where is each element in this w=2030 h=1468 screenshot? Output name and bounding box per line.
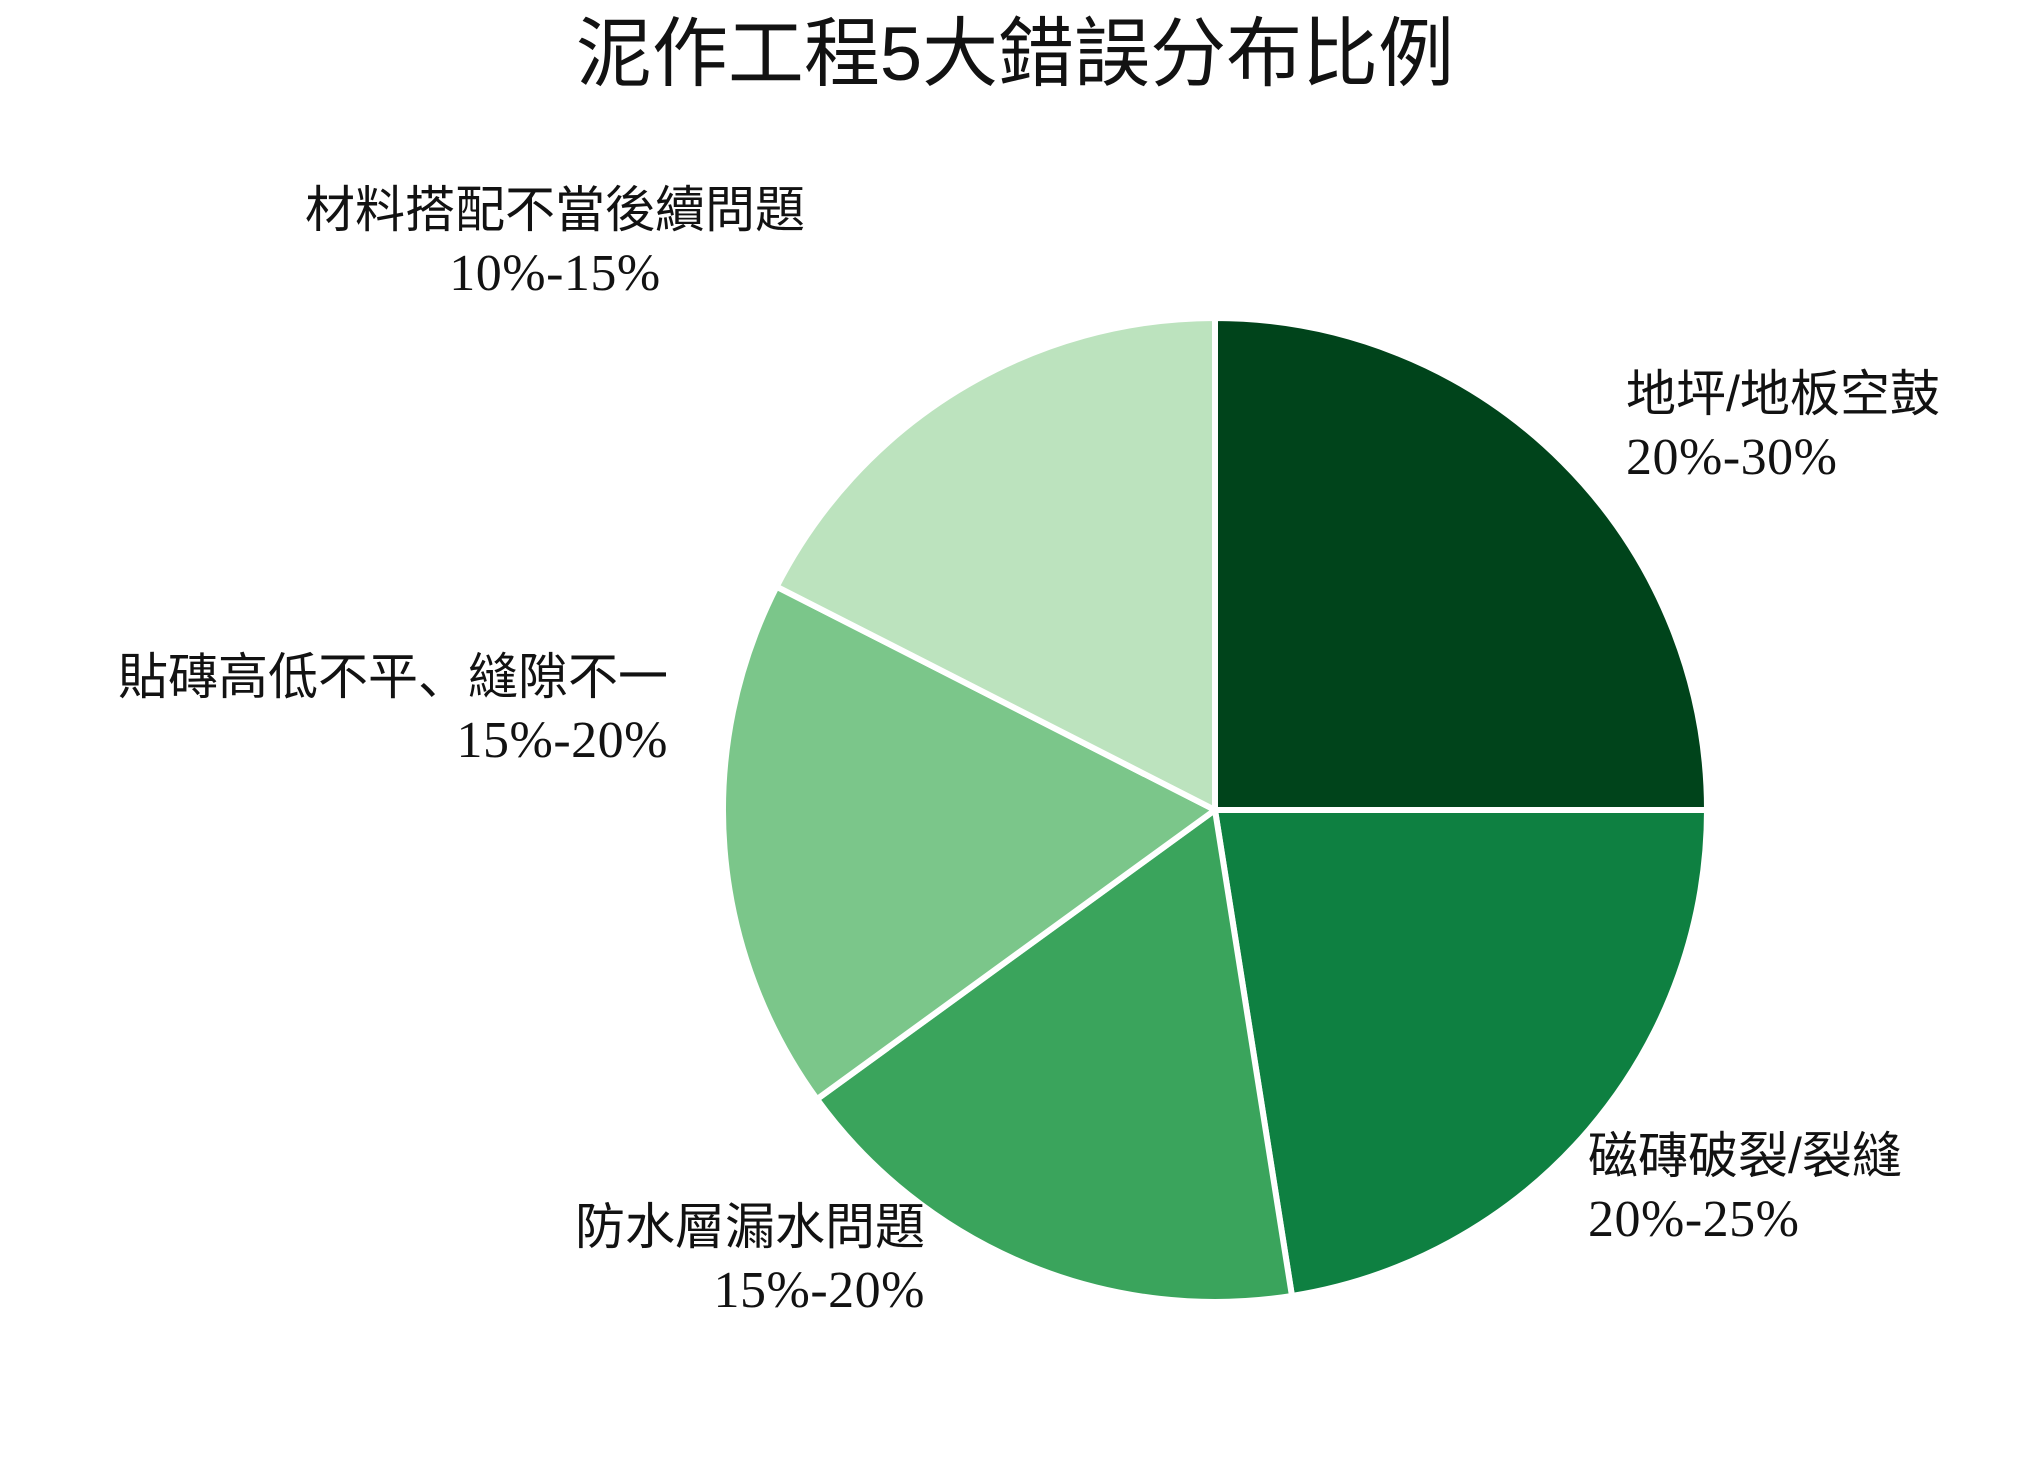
slice-label-tiezhuan: 貼磚高低不平、縫隙不一 15%-20% bbox=[18, 645, 668, 773]
slice-label-tiezhuan-name: 貼磚高低不平、縫隙不一 bbox=[18, 645, 668, 709]
slice-label-cizhuan-pct: 20%-25% bbox=[1588, 1188, 1902, 1252]
slice-label-fangshui-name: 防水層漏水問題 bbox=[505, 1195, 925, 1259]
slice-label-cailiao-pct: 10%-15% bbox=[300, 242, 810, 306]
slice-label-cizhuan: 磁磚破裂/裂縫 20%-25% bbox=[1588, 1124, 1902, 1252]
slice-label-dipin: 地坪/地板空鼓 20%-30% bbox=[1626, 362, 1940, 490]
slice-label-cailiao: 材料搭配不當後續問題 10%-15% bbox=[300, 178, 810, 306]
slice-label-tiezhuan-pct: 15%-20% bbox=[18, 709, 668, 773]
slice-label-fangshui-pct: 15%-20% bbox=[505, 1259, 925, 1323]
slice-label-fangshui: 防水層漏水問題 15%-20% bbox=[505, 1195, 925, 1323]
slice-label-dipin-pct: 20%-30% bbox=[1626, 426, 1940, 490]
slice-label-cailiao-name: 材料搭配不當後續問題 bbox=[300, 178, 810, 242]
slice-label-cizhuan-name: 磁磚破裂/裂縫 bbox=[1588, 1124, 1902, 1188]
pie-chart: 地坪/地板空鼓 20%-30% 磁磚破裂/裂縫 20%-25% 防水層漏水問題 … bbox=[0, 0, 2030, 1468]
slice-label-dipin-name: 地坪/地板空鼓 bbox=[1626, 362, 1940, 426]
